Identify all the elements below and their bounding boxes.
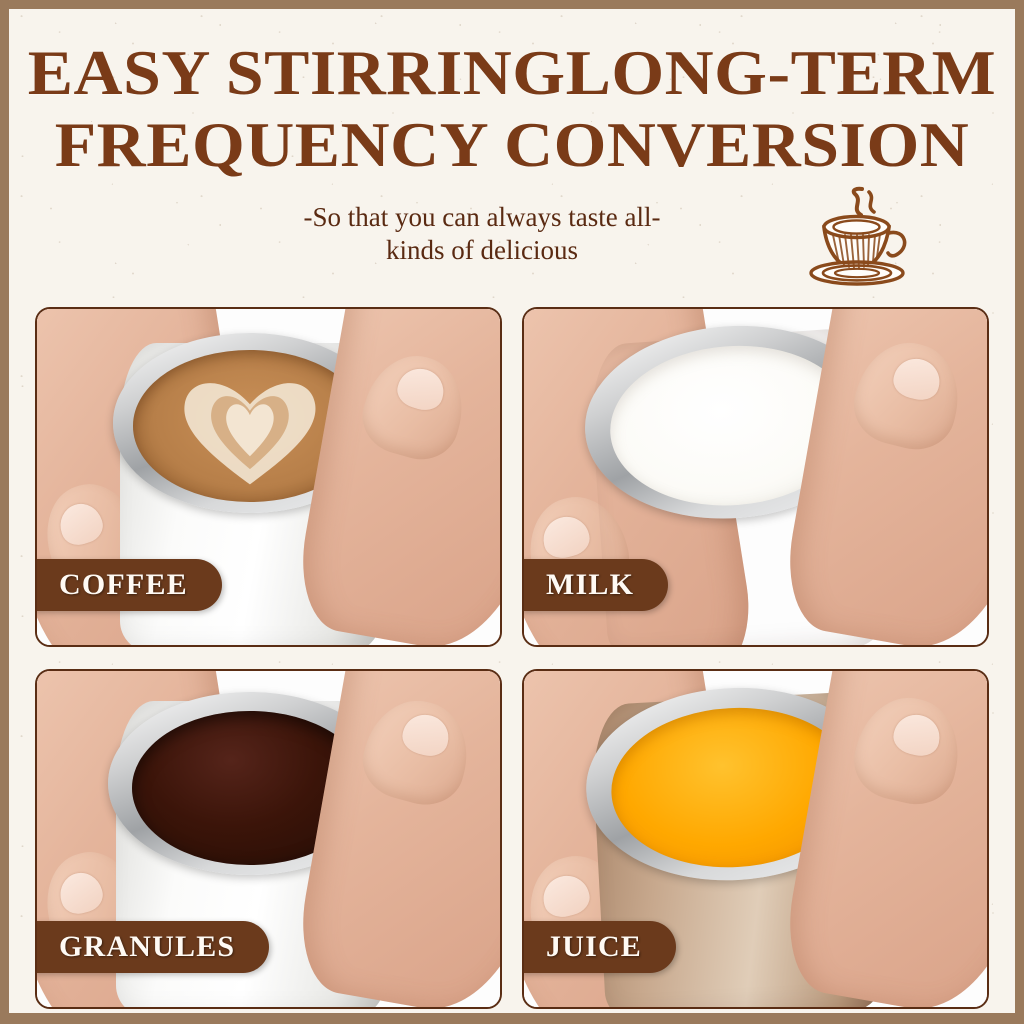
label-coffee: COFFEE [35, 559, 222, 611]
headline-block: EASY STIRRINGLONG-TERM FREQUENCY CONVERS… [9, 9, 1015, 181]
card-coffee[interactable]: COFFEE [35, 307, 502, 647]
label-granules: GRANULES [35, 921, 269, 973]
card-milk[interactable]: MILK [522, 307, 989, 647]
card-granules[interactable]: GRANULES [35, 669, 502, 1009]
poster-page: EASY STIRRINGLONG-TERM FREQUENCY CONVERS… [9, 9, 1015, 1013]
label-juice: JUICE [522, 921, 676, 973]
subtitle-row: -So that you can always taste all- kinds… [9, 197, 1015, 293]
coffee-cup-icon [799, 185, 919, 291]
title-line-2: FREQUENCY CONVERSION [9, 109, 1015, 181]
card-juice[interactable]: JUICE [522, 669, 989, 1009]
poster-frame: EASY STIRRINGLONG-TERM FREQUENCY CONVERS… [0, 0, 1024, 1024]
product-card-grid: COFFEE MIL [35, 307, 989, 1009]
label-milk: MILK [522, 559, 668, 611]
title-line-1: EASY STIRRINGLONG-TERM [9, 37, 1015, 109]
